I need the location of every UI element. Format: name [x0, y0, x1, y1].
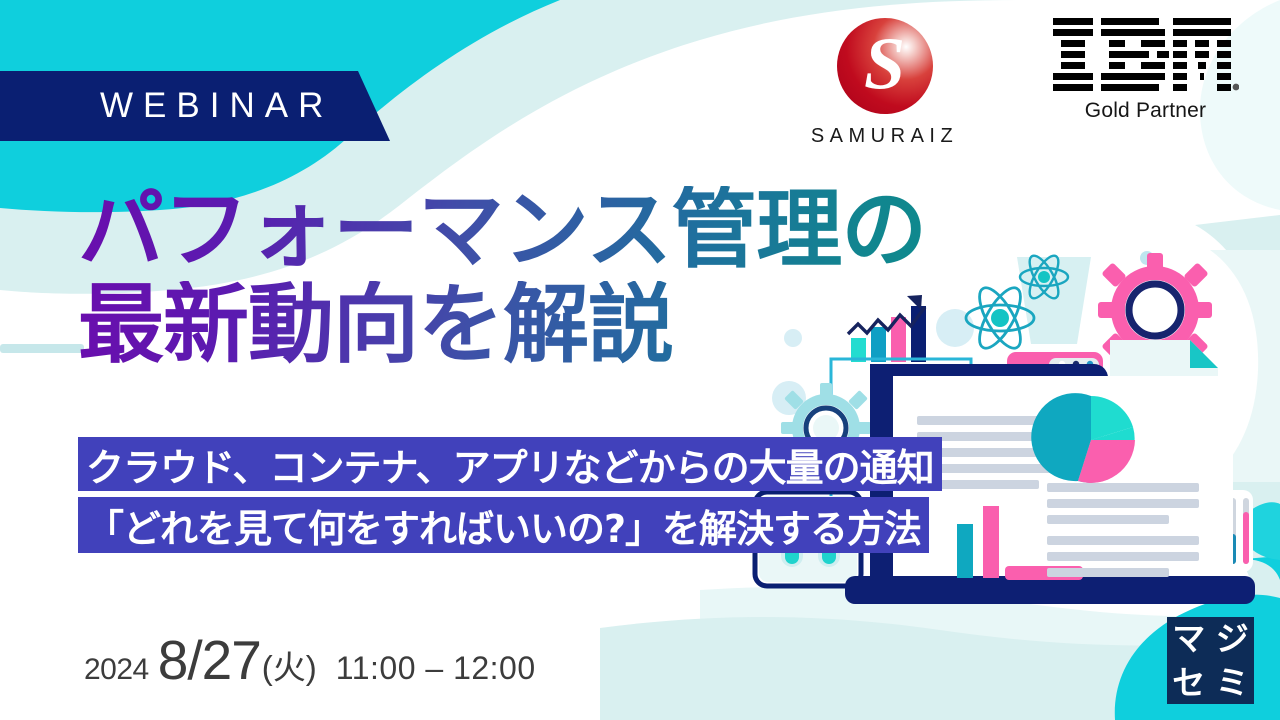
subtitle-bar-2: 「どれを見て何をすればいいの?」を解決する方法	[78, 497, 929, 553]
webinar-label: WEBINAR	[100, 86, 333, 126]
ibm-logo: Gold Partner	[1031, 18, 1260, 123]
title-line-2: 最新動向を解説	[78, 281, 1008, 370]
samuraiz-logo: S SAMURAIZ	[780, 18, 989, 148]
majisemi-char-1: マ	[1172, 622, 1205, 655]
pie-chart-illustration	[1031, 393, 1135, 483]
webinar-banner: WEBINAR S SAMURAIZ	[0, 0, 1280, 720]
event-datetime: 2024 8/27 (火) 11:00 – 12:00	[84, 628, 536, 692]
event-day: 8/27	[158, 628, 261, 692]
ibm-partner-level: Gold Partner	[1085, 99, 1206, 123]
majisemi-char-4: ミ	[1216, 666, 1249, 699]
majisemi-logo: マ ジ セ ミ	[1167, 617, 1254, 704]
logo-group: S SAMURAIZ	[780, 18, 1260, 168]
ibm-mark-icon	[1053, 18, 1239, 92]
samuraiz-wordmark: SAMURAIZ	[811, 125, 958, 148]
samuraiz-s-glyph: S	[864, 28, 905, 102]
page-title: パフォーマンス管理の 最新動向を解説	[78, 186, 1008, 369]
majisemi-char-3: セ	[1172, 666, 1205, 699]
samuraiz-mark-icon: S	[837, 18, 933, 114]
title-line-1: パフォーマンス管理の	[78, 186, 1008, 275]
event-time: 11:00 – 12:00	[336, 650, 536, 687]
subtitle-bar-1: クラウド、コンテナ、アプリなどからの大量の通知	[78, 437, 942, 491]
event-day-of-week: (火)	[262, 641, 317, 689]
majisemi-char-2: ジ	[1216, 622, 1249, 655]
webinar-ribbon: WEBINAR	[0, 71, 390, 141]
event-year: 2024	[84, 653, 149, 687]
